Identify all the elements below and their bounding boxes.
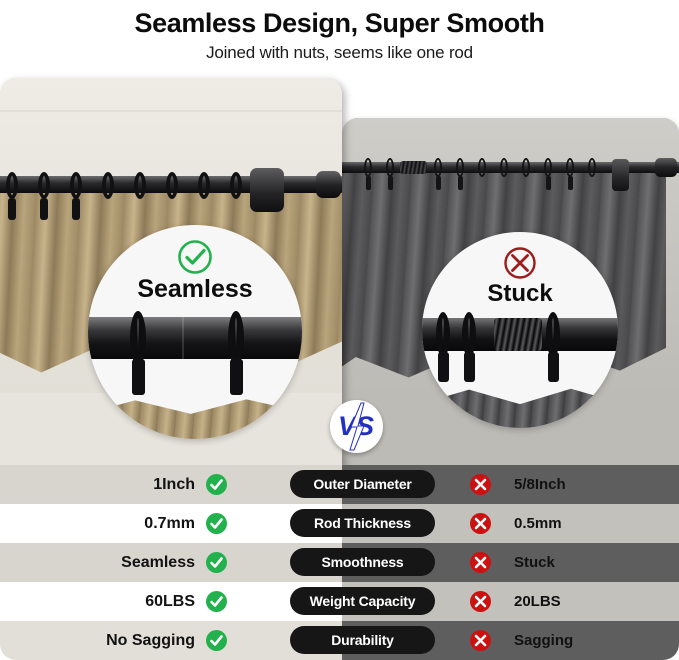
table-row: 1Inch 5/8Inch Outer Diameter — [0, 465, 679, 504]
seamless-closeup-label: Seamless — [88, 275, 302, 304]
rod-end-cap — [655, 158, 677, 177]
curtain-clip — [72, 198, 80, 220]
stuck-closeup-bubble: Stuck — [422, 232, 618, 428]
competitor-value: 5/8Inch — [514, 465, 664, 504]
stuck-closeup-label: Stuck — [422, 280, 618, 308]
curtain-ring — [566, 158, 574, 177]
x-circle-filled-icon — [470, 552, 491, 573]
product-value: Seamless — [40, 543, 195, 582]
zoomed-curtain-clip — [548, 352, 559, 382]
zoomed-curtain-clip — [464, 352, 475, 382]
zoomed-curtain-clip — [438, 352, 449, 382]
product-value: 60LBS — [40, 582, 195, 621]
zoomed-gray-fabric — [422, 382, 618, 428]
curtain-clip — [458, 176, 463, 190]
table-row: 0.7mm 0.5mm Rod Thickness — [0, 504, 679, 543]
comparison-stage: Seamless Stuck VS — [0, 70, 679, 620]
feature-label: Weight Capacity — [290, 587, 435, 615]
curtain-ring — [456, 158, 464, 177]
curtain-clip — [436, 176, 441, 190]
table-row: Seamless Stuck Smoothness — [0, 543, 679, 582]
check-circle-filled-icon — [206, 552, 227, 573]
curtain-ring — [198, 172, 210, 199]
curtain-ring — [434, 158, 442, 177]
zoomed-curtain-clip — [230, 359, 243, 395]
comparison-table: 1Inch 5/8Inch Outer Diameter — [0, 465, 679, 660]
curtain-ring — [38, 172, 50, 199]
page-subtitle: Joined with nuts, seems like one rod — [0, 40, 679, 66]
x-circle-filled-icon — [470, 630, 491, 651]
zoomed-coil-joint — [494, 318, 542, 351]
curtain-clip — [366, 176, 371, 190]
zoomed-curtain-ring — [546, 312, 560, 357]
table-row: 60LBS 20LBS Weight Capacity — [0, 582, 679, 621]
rod-thread-joint — [400, 161, 427, 174]
header: Seamless Design, Super Smooth Joined wit… — [0, 0, 679, 66]
feature-label: Rod Thickness — [290, 509, 435, 537]
curtain-clip — [568, 176, 573, 190]
curtain-ring — [6, 172, 18, 199]
curtain-ring — [386, 158, 394, 177]
curtain-ring — [230, 172, 242, 199]
zoomed-curtain-ring — [130, 311, 146, 365]
curtain-ring — [544, 158, 552, 177]
page-title: Seamless Design, Super Smooth — [0, 6, 679, 40]
curtain-ring — [102, 172, 114, 199]
x-circle-filled-icon — [470, 591, 491, 612]
check-circle-filled-icon — [206, 591, 227, 612]
check-circle-filled-icon — [206, 474, 227, 495]
wall-trim-line — [0, 110, 342, 112]
zoomed-curtain-clip — [132, 359, 145, 395]
zoomed-seamless-rod — [88, 317, 302, 359]
competitor-value: 20LBS — [514, 582, 664, 621]
check-circle-filled-icon — [206, 630, 227, 651]
zoomed-curtain-ring — [228, 311, 244, 365]
versus-badge: VS — [330, 400, 383, 453]
curtain-ring — [364, 158, 372, 177]
x-circle-filled-icon — [470, 513, 491, 534]
curtain-clip — [388, 176, 393, 190]
curtain-ring — [588, 158, 596, 177]
curtain-ring — [70, 172, 82, 199]
rod-end-cap — [316, 171, 341, 198]
zoomed-curtain-ring — [462, 312, 476, 357]
x-circle-filled-icon — [470, 474, 491, 495]
curtain-clip — [8, 198, 16, 220]
zoomed-curtain-ring — [436, 312, 450, 357]
product-value: 0.7mm — [40, 504, 195, 543]
product-value: No Sagging — [40, 621, 195, 660]
curtain-clip — [546, 176, 551, 190]
table-row: No Sagging Sagging Durability — [0, 621, 679, 660]
curtain-ring — [166, 172, 178, 199]
check-circle-filled-icon — [206, 513, 227, 534]
curtain-ring — [522, 158, 530, 177]
curtain-clip — [40, 198, 48, 220]
competitor-value: Stuck — [514, 543, 664, 582]
curtain-ring — [478, 158, 486, 177]
competitor-value: Sagging — [514, 621, 664, 660]
rod-bracket — [612, 159, 629, 191]
feature-label: Outer Diameter — [290, 470, 435, 498]
feature-label: Smoothness — [290, 548, 435, 576]
curtain-ring — [134, 172, 146, 199]
curtain-ring — [500, 158, 508, 177]
zoomed-tan-fabric — [88, 391, 302, 439]
competitor-value: 0.5mm — [514, 504, 664, 543]
rod-bracket — [250, 168, 284, 212]
feature-label: Durability — [290, 626, 435, 654]
seamless-closeup-bubble: Seamless — [88, 225, 302, 439]
product-value: 1Inch — [40, 465, 195, 504]
